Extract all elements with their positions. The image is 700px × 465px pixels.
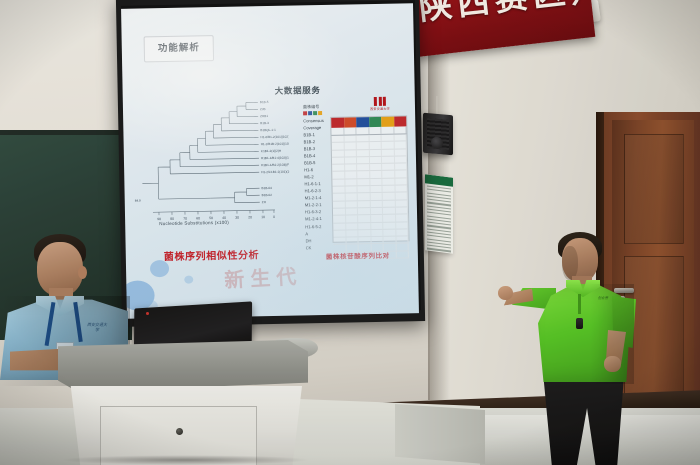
- projector-screen: 功能解析 大数据服务: [121, 3, 419, 319]
- svg-text:H1-2/B1B-2(101)(102): H1-2/B1B-2(101)(102): [261, 142, 291, 147]
- door-handle[interactable]: [614, 288, 634, 293]
- svg-text:B1B-5: B1B-5: [260, 100, 269, 104]
- dendrogram-chart: B1B-5 ZJB ZHB1 B1B-3 B1BQL-1-1 H1-6/B1-2…: [133, 96, 290, 229]
- svg-text:B1B-04: B1B-04: [261, 186, 272, 190]
- floor-reflection: [470, 415, 700, 465]
- presenter-logo-text: 创业营: [595, 296, 611, 301]
- presenter-right-hand: [604, 356, 621, 372]
- laptop-indicator-light: [146, 312, 149, 315]
- svg-text:B1BQL-1-1: B1BQL-1-1: [260, 128, 276, 132]
- svg-text:84.9: 84.9: [135, 198, 141, 202]
- chalkboard-frame: [0, 130, 134, 135]
- door-upper-panel: [624, 134, 684, 244]
- logo-bars: [369, 97, 391, 106]
- svg-text:B1B-02: B1B-02: [262, 193, 273, 197]
- chart-caption-right: 菌株核苷酸序列比对: [326, 250, 390, 261]
- svg-text:ZHB1: ZHB1: [260, 114, 268, 118]
- operator-logo-text: 西安交通大学: [86, 322, 108, 332]
- photo-scene: 创业训练营（陕西赛区） 功能解析 大数据服务: [0, 0, 700, 465]
- presenter-microphone: [576, 318, 583, 329]
- svg-text:30: 30: [235, 216, 239, 220]
- lectern-floor-shadow: [60, 455, 310, 465]
- chart-caption-left: 菌株序列相似性分析: [164, 246, 260, 263]
- svg-text:H1-6/B1-2(101)(102): H1-6/B1-2(101)(102): [261, 135, 290, 140]
- operator-shirt-logo: 西安交通大学: [86, 322, 108, 340]
- decor-circle: [150, 260, 169, 277]
- logo-label: 西安交通大学: [369, 107, 391, 111]
- svg-text:H1-2/C1B1-2(101)(102): H1-2/C1B1-2(101)(102): [261, 170, 290, 175]
- institution-logo: 西安交通大学: [369, 97, 391, 113]
- notice-text-lines: [425, 183, 453, 253]
- svg-text:H1B1-1/B1-4(102)(103): H1B1-1/B1-4(102)(103): [261, 156, 290, 161]
- speaker-cone: [431, 136, 443, 149]
- svg-text:H1B1-1/B1-2(103)(F1): H1B1-1/B1-2(103)(F1): [261, 163, 290, 168]
- legend-header: 菌株编号: [303, 103, 337, 111]
- legend-color-swatches: [303, 111, 337, 116]
- svg-text:ZJB: ZJB: [260, 107, 266, 111]
- slide-section-tab: 功能解析: [144, 35, 214, 62]
- sequence-alignment-table: [330, 115, 409, 242]
- wall-speaker: [423, 113, 453, 156]
- svg-text:B1B-3: B1B-3: [260, 121, 269, 125]
- slide-section-label: 功能解析: [145, 36, 213, 61]
- presenter-placket: [578, 294, 581, 314]
- notice-board: [425, 174, 453, 253]
- presenter-face-shadow: [562, 246, 578, 280]
- lectern-lock[interactable]: [176, 428, 183, 435]
- presenter-left-hand: [498, 286, 513, 300]
- svg-text:C1B1-2(1)(2)H: C1B1-2(1)(2)H: [261, 149, 281, 153]
- stage-platform-edge: [395, 404, 485, 464]
- svg-text:20: 20: [248, 215, 252, 219]
- decor-circle: [184, 275, 193, 283]
- svg-text:0: 0: [273, 215, 275, 219]
- operator-ear: [78, 266, 87, 279]
- svg-text:ZH: ZH: [262, 200, 266, 204]
- presenter-shirt-logo: 创业营: [595, 296, 611, 309]
- dendrogram-svg: B1B-5 ZJB ZHB1 B1B-3 B1BQL-1-1 H1-6/B1-2…: [133, 96, 290, 229]
- svg-text:10: 10: [261, 215, 265, 219]
- slide-watermark: 新生代: [223, 260, 302, 293]
